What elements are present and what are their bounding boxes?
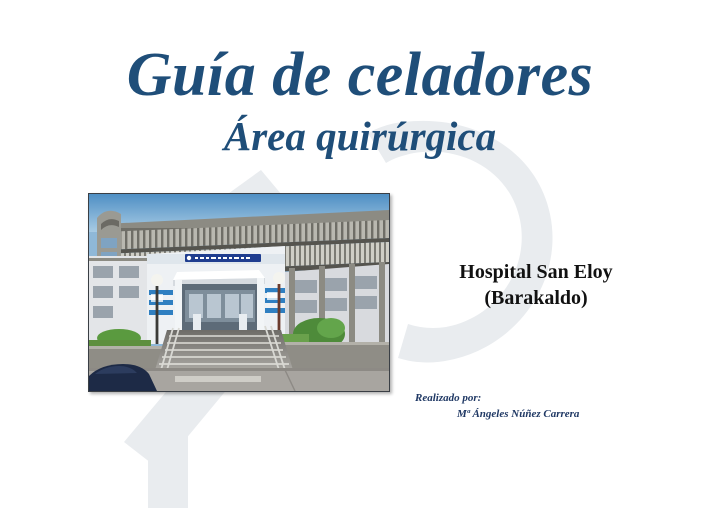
credit-label: Realizado por:: [415, 392, 481, 404]
page-subtitle: Área quirúrgica: [0, 106, 720, 157]
credit-author-name: Mª Ángeles Núñez Carrera: [415, 407, 579, 423]
page-title: Guía de celadores: [0, 0, 720, 106]
hospital-location: (Barakaldo): [396, 285, 676, 311]
author-credit: Realizado por: Mª Ángeles Núñez Carrera: [415, 391, 579, 423]
cover-page: Guía de celadores Área quirúrgica: [0, 0, 720, 509]
hospital-name: Hospital San Eloy: [396, 259, 676, 285]
hospital-photo: [88, 193, 390, 392]
hospital-caption: Hospital San Eloy (Barakaldo): [396, 259, 676, 312]
title-block: Guía de celadores Área quirúrgica: [0, 0, 720, 157]
